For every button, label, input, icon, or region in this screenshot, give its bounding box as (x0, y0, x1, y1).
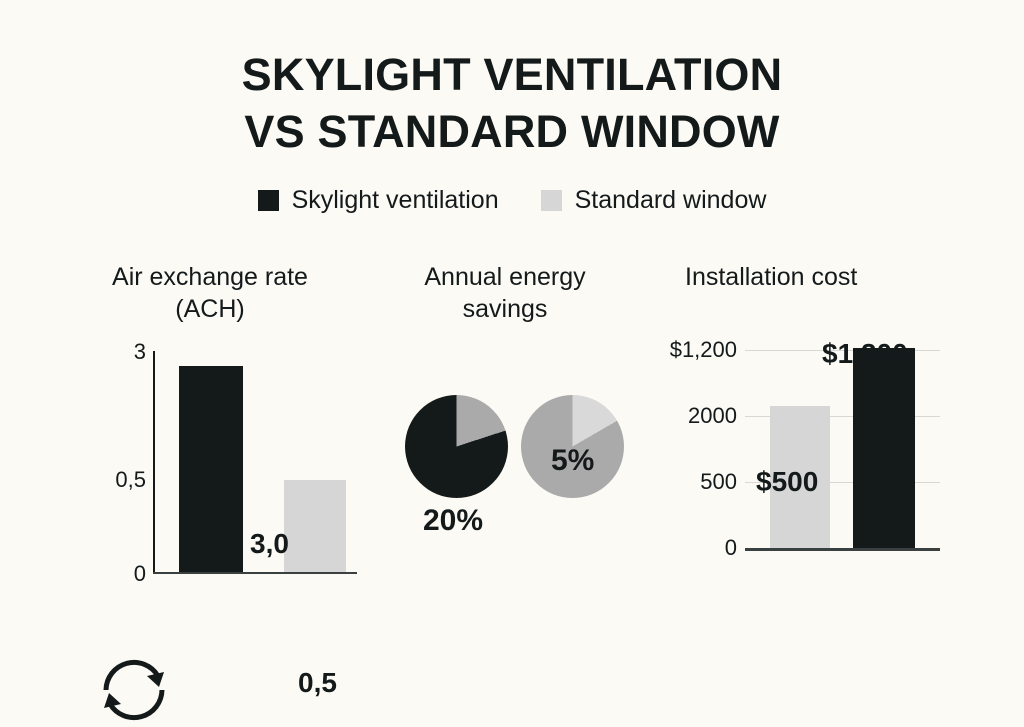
poster-title: SKYLIGHT VENTILATION VS STANDARD WINDOW (0, 46, 1024, 160)
legend-swatch-skylight-icon (258, 190, 279, 211)
air-exchange-bar-chart: 3 0,5 0 (40, 340, 370, 580)
y-tick-label-0: 0 (100, 562, 146, 586)
installation-cost-bar-chart: $1,200 2000 500 0 $500 $1,200 (660, 330, 1005, 580)
infographic-poster: SKYLIGHT VENTILATION VS STANDARD WINDOW … (0, 0, 1024, 683)
bar-value-installation-cost-standard: $500 (756, 466, 818, 498)
legend-item-standard: Standard window (541, 186, 767, 214)
bar-air-exchange-skylight (179, 366, 243, 572)
y-tick-label-3: 3 (100, 340, 146, 364)
bar-air-exchange-standard (284, 480, 346, 572)
legend-label-standard: Standard window (575, 186, 767, 214)
recycle-arrows-icon (97, 653, 171, 727)
panel-air-exchange-rate: Air exchange rate (ACH) 3 0,5 0 3,0 0,5 (40, 255, 370, 595)
x-axis-line (153, 572, 357, 574)
bar-value-air-exchange-skylight: 3,0 (250, 529, 289, 559)
title-line-1: SKYLIGHT VENTILATION (0, 46, 1024, 103)
bar-installation-cost-skylight (853, 348, 915, 548)
panel-installation-cost: Installation cost $1,200 2000 500 0 $500… (660, 255, 1005, 595)
legend-swatch-standard-icon (541, 190, 562, 211)
pie-value-skylight: 20% (423, 505, 483, 537)
y-tick-label-0: 0 (665, 536, 737, 560)
panel-annual-energy-savings: Annual energy savings 20% 5% (355, 255, 655, 595)
bar-value-air-exchange-standard: 0,5 (298, 668, 337, 698)
chart-legend: Skylight ventilation Standard window (0, 186, 1024, 214)
pie-chart-skylight-savings (405, 395, 508, 498)
y-tick-label-2000: 2000 (665, 404, 737, 428)
legend-label-skylight: Skylight ventilation (292, 186, 499, 214)
title-line-2: VS STANDARD WINDOW (0, 103, 1024, 160)
panel-title-installation-cost: Installation cost (685, 261, 985, 293)
panel-title-air-exchange-rate: Air exchange rate (ACH) (50, 261, 370, 325)
x-axis-line (745, 548, 940, 551)
legend-item-skylight: Skylight ventilation (258, 186, 499, 214)
y-tick-label-0-5: 0,5 (86, 468, 146, 492)
panel-title-annual-energy-savings: Annual energy savings (365, 261, 645, 325)
pie-value-standard: 5% (551, 445, 594, 477)
y-tick-label-500: 500 (665, 470, 737, 494)
bar-value-installation-cost-skylight: $1,200 (822, 338, 908, 370)
y-tick-label-1200: $1,200 (665, 338, 737, 362)
